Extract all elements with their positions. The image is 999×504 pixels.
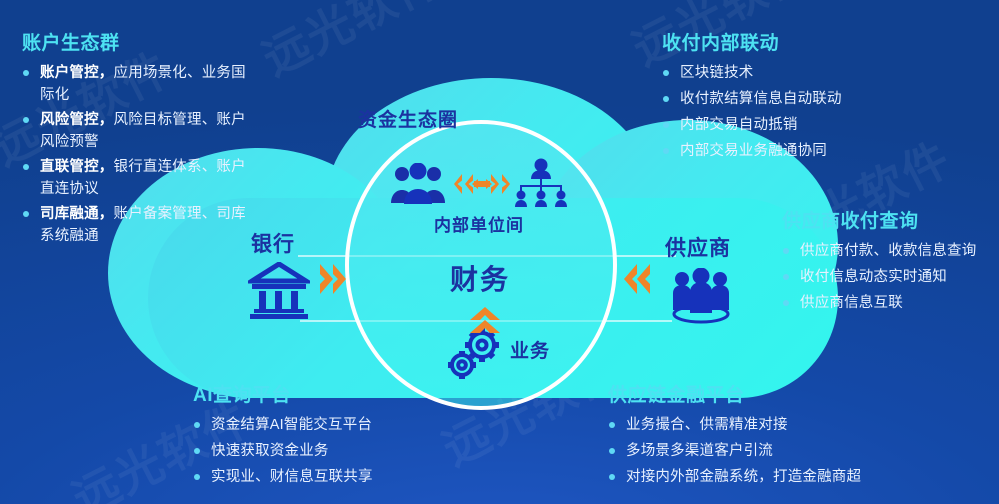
infographic-canvas: 远光软件 远光软件 远光软件 远光软件 远光软件 远光软件 (0, 0, 999, 504)
ecosystem-label: 资金生态圈 (358, 105, 458, 132)
block-supplier-query: 供应商收付查询 供应商付款、收款信息查询 收付信息动态实时通知 供应商信息互联 (782, 206, 997, 318)
list-item: 快速获取资金业务 (193, 440, 483, 462)
block-list: 供应商付款、收款信息查询 收付信息动态实时通知 供应商信息互联 (782, 240, 997, 314)
list-item: 供应商信息互联 (782, 292, 997, 314)
list-item-lead: 风险管控， (40, 112, 114, 128)
list-item: 业务撮合、供需精准对接 (608, 414, 988, 436)
bank-building-icon (248, 262, 310, 325)
block-list: 账户管控，应用场景化、业务国际化 风险管控，风险目标管理、账户风险预警 直联管控… (22, 62, 258, 248)
block-account-ecosystem: 账户生态群 账户管控，应用场景化、业务国际化 风险管控，风险目标管理、账户风险预… (22, 28, 258, 250)
list-item: 司库融通，账户备案管理、司库系统融通 (22, 203, 258, 248)
list-item: 收付信息动态实时通知 (782, 266, 997, 288)
list-item: 内部交易自动抵销 (662, 114, 982, 136)
chevron-up-icon (468, 305, 502, 340)
list-item: 对接内外部金融系统，打造金融商超 (608, 466, 988, 488)
list-item: 实现业、财信息互联共享 (193, 466, 483, 488)
block-list: 资金结算AI智能交互平台 快速获取资金业务 实现业、财信息互联共享 (193, 414, 483, 488)
list-item: 风险管控，风险目标管理、账户风险预警 (22, 109, 258, 154)
block-list: 区块链技术 收付款结算信息自动联动 内部交易自动抵销 内部交易业务融通协同 (662, 62, 982, 162)
block-title: 供应商收付查询 (782, 206, 997, 233)
finance-label: 财务 (450, 258, 510, 298)
block-title: 供应链金融平台 (608, 380, 988, 407)
block-internal-settlement: 收付内部联动 区块链技术 收付款结算信息自动联动 内部交易自动抵销 内部交易业务… (662, 28, 982, 166)
internal-unit-label: 内部单位间 (434, 211, 524, 236)
list-item: 直联管控，银行直连体系、账户直连协议 (22, 156, 258, 201)
bidirectional-exchange-icon (452, 168, 512, 205)
chevron-right-icon (318, 262, 348, 301)
supplier-people-icon (668, 268, 734, 329)
block-title: AI查询平台 (193, 380, 483, 407)
org-chart-icon (513, 158, 569, 213)
list-item: 区块链技术 (662, 62, 982, 84)
list-item-lead: 直联管控， (40, 159, 114, 175)
watermark-text: 远光软件 (250, 0, 451, 89)
list-item: 多场景多渠道客户引流 (608, 440, 988, 462)
list-item: 内部交易业务融通协同 (662, 140, 982, 162)
list-item: 收付款结算信息自动联动 (662, 88, 982, 110)
list-item: 账户管控，应用场景化、业务国际化 (22, 62, 258, 107)
list-item: 资金结算AI智能交互平台 (193, 414, 483, 436)
block-title: 账户生态群 (22, 28, 258, 55)
list-item-lead: 司库融通， (40, 206, 114, 222)
business-label: 业务 (510, 336, 550, 363)
supplier-label: 供应商 (665, 232, 731, 262)
list-item-lead: 账户管控， (40, 65, 114, 81)
block-ai-query-platform: AI查询平台 资金结算AI智能交互平台 快速获取资金业务 实现业、财信息互联共享 (193, 380, 483, 492)
people-group-icon (390, 163, 446, 210)
block-title: 收付内部联动 (662, 28, 982, 55)
chevron-left-icon (622, 262, 652, 301)
list-item: 供应商付款、收款信息查询 (782, 240, 997, 262)
block-list: 业务撮合、供需精准对接 多场景多渠道客户引流 对接内外部金融系统，打造金融商超 (608, 414, 988, 488)
block-supply-chain-finance: 供应链金融平台 业务撮合、供需精准对接 多场景多渠道客户引流 对接内外部金融系统… (608, 380, 988, 492)
